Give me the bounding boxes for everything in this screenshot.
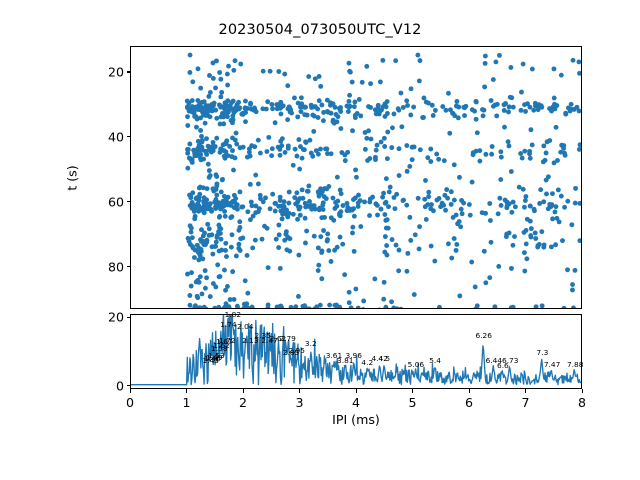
x-tick-label: 4 [352,395,360,410]
x-axis-label: IPI (ms) [332,412,380,427]
x-tick-label: 3 [295,395,303,410]
y-tick-label-top: 20 [88,64,124,79]
x-tick-label: 1 [182,395,190,410]
figure-title: 20230504_073050UTC_V12 [0,22,640,38]
x-tick-label: 2 [239,395,247,410]
x-tick-mark [130,389,131,393]
y-tick-mark-top [127,71,131,72]
scatter-axes [130,46,582,309]
x-tick-mark [186,389,187,393]
x-tick-mark [582,389,583,393]
peak-annotation: 7.3 [537,349,549,356]
x-tick-mark [469,389,470,393]
y-tick-label-bottom: 0 [88,378,124,393]
peak-annotation: 5.4 [429,357,441,364]
peak-annotation: 7.88 [567,361,583,368]
x-tick-label: 6 [465,395,473,410]
peak-annotation: 6.26 [475,332,491,339]
peak-annotation: 1.72 [219,337,235,344]
y-tick-label-top: 40 [88,129,124,144]
y-tick-mark-bottom [127,385,131,386]
peak-annotation: 6.73 [502,357,518,364]
peak-annotation: 1.82 [225,311,241,318]
peak-annotation: 2.95 [288,347,304,354]
x-tick-label: 7 [521,395,529,410]
x-tick-label: 0 [126,395,134,410]
x-tick-label: 8 [578,395,586,410]
peak-annotation: 5.06 [408,361,424,368]
peak-annotation: 4.5 [378,355,390,362]
x-tick-mark [412,389,413,393]
x-tick-label: 5 [408,395,416,410]
matplotlib-figure: 20230504_073050UTC_V12 t (s) IPI (ms) 01… [0,0,640,480]
y-tick-mark-top [127,201,131,202]
y-tick-label-bottom: 20 [88,310,124,325]
y-tick-mark-top [127,136,131,137]
peak-annotation: 3.2 [305,340,317,347]
peak-annotation: 1.74 [220,321,236,328]
peak-annotation: 3.96 [346,352,362,359]
peak-annotation: 2.79 [279,335,295,342]
y-tick-label-top: 80 [88,259,124,274]
peak-annotation: 7.47 [544,361,560,368]
y-tick-mark-bottom [127,317,131,318]
x-tick-mark [243,389,244,393]
peak-annotation: 2.04 [237,323,253,330]
y-tick-label-top: 60 [88,194,124,209]
scatter-points [131,47,581,308]
x-tick-mark [356,389,357,393]
y-tick-mark-top [127,266,131,267]
x-tick-mark [299,389,300,393]
y-axis-label-top: t (s) [65,165,80,190]
x-tick-mark [525,389,526,393]
